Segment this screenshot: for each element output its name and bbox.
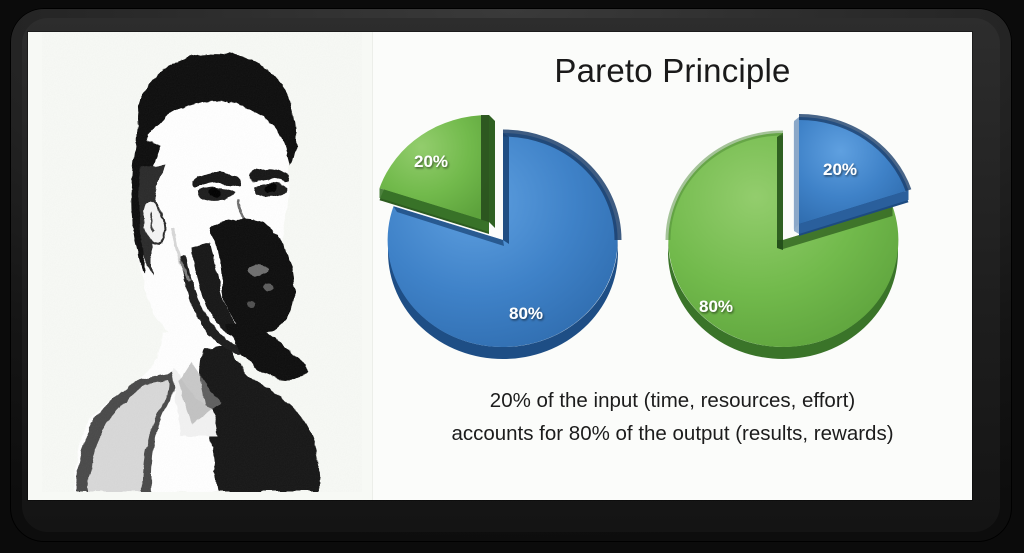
pie-chart-right: 20% 80% (668, 117, 909, 359)
pie-right-major-label: 80% (699, 297, 733, 316)
slide-card: Pareto Principle (28, 32, 972, 500)
slide-screenshot: Pareto Principle (0, 0, 1024, 553)
pareto-portrait-image (42, 32, 362, 492)
pie-chart-left: 20% 80% (380, 115, 619, 359)
pareto-pie-charts: 20% 80% (373, 90, 972, 380)
caption-line-1: 20% of the input (time, resources, effor… (373, 384, 972, 417)
portrait-panel (28, 32, 373, 500)
pie-left-major-label: 80% (509, 304, 543, 323)
caption-block: 20% of the input (time, resources, effor… (373, 384, 972, 450)
pie-right-minor-label: 20% (823, 160, 857, 179)
pie-left-minor-label: 20% (414, 152, 448, 171)
chart-panel: Pareto Principle (373, 32, 972, 500)
caption-line-2: accounts for 80% of the output (results,… (373, 417, 972, 450)
page-title: Pareto Principle (373, 52, 972, 90)
